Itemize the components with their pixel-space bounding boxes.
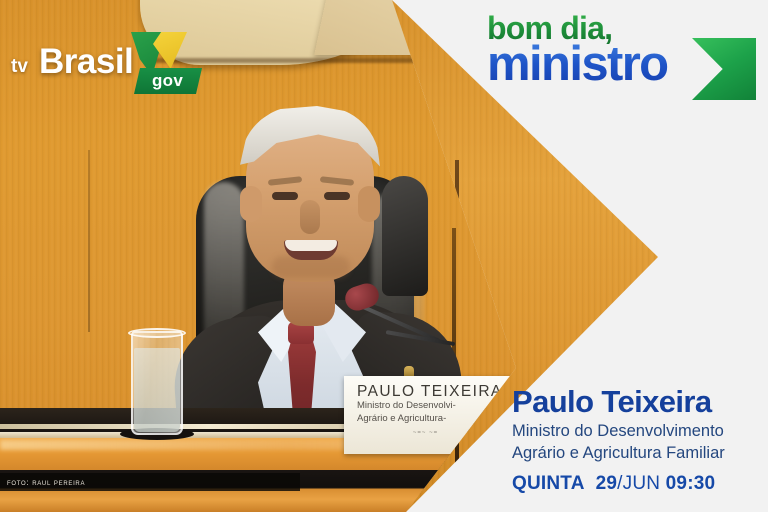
nameplate-role-line2: Agrário e Agricultura- (357, 413, 534, 426)
program-logo[interactable]: bom dia, ministro (487, 12, 759, 104)
ear-right (358, 186, 380, 222)
schedule-month: JUN (623, 473, 661, 494)
nameplate-small-mark: ~=~ ~= (357, 430, 534, 436)
photo-credit: Foto: Raul Pereira (0, 473, 300, 491)
gov-badge: gov (134, 68, 202, 94)
tv-logo-prefix: tv (11, 56, 28, 78)
guest-role-line1: Ministro do Desenvolvimento (512, 421, 764, 441)
chair-armrest (382, 176, 428, 296)
schedule-weekday: QUINTA (512, 473, 585, 494)
glass-rim (128, 328, 186, 338)
schedule-day: 29 (596, 473, 618, 494)
nose (300, 200, 320, 234)
broadcast-promo-card: PAULO TEIXEIRA Ministro do Desenvolvi- A… (0, 0, 768, 512)
water-fill (134, 348, 180, 432)
wall-seam (88, 150, 90, 332)
eye-left (272, 192, 298, 200)
schedule-line: QUINTA 29/JUN 09:30 (512, 473, 764, 495)
schedule-time: 09:30 (666, 473, 716, 494)
guest-role-line2: Agrário e Agricultura Familiar (512, 443, 764, 463)
gov-badge-label: gov (152, 71, 183, 91)
eye-right (324, 192, 350, 200)
green-chevron-arrow-icon (692, 38, 756, 100)
photo-credit-text: Foto: Raul Pereira (7, 478, 85, 487)
program-logo-line2: ministro (487, 40, 668, 89)
ear-left (240, 186, 262, 222)
tv-logo-name: Brasil (39, 42, 133, 82)
guest-name: Paulo Teixeira (512, 386, 764, 419)
teeth (285, 240, 337, 251)
guest-info-block: Paulo Teixeira Ministro do Desenvolvimen… (512, 386, 764, 495)
tv-brasil-logo[interactable]: tv Brasil gov (9, 30, 189, 96)
